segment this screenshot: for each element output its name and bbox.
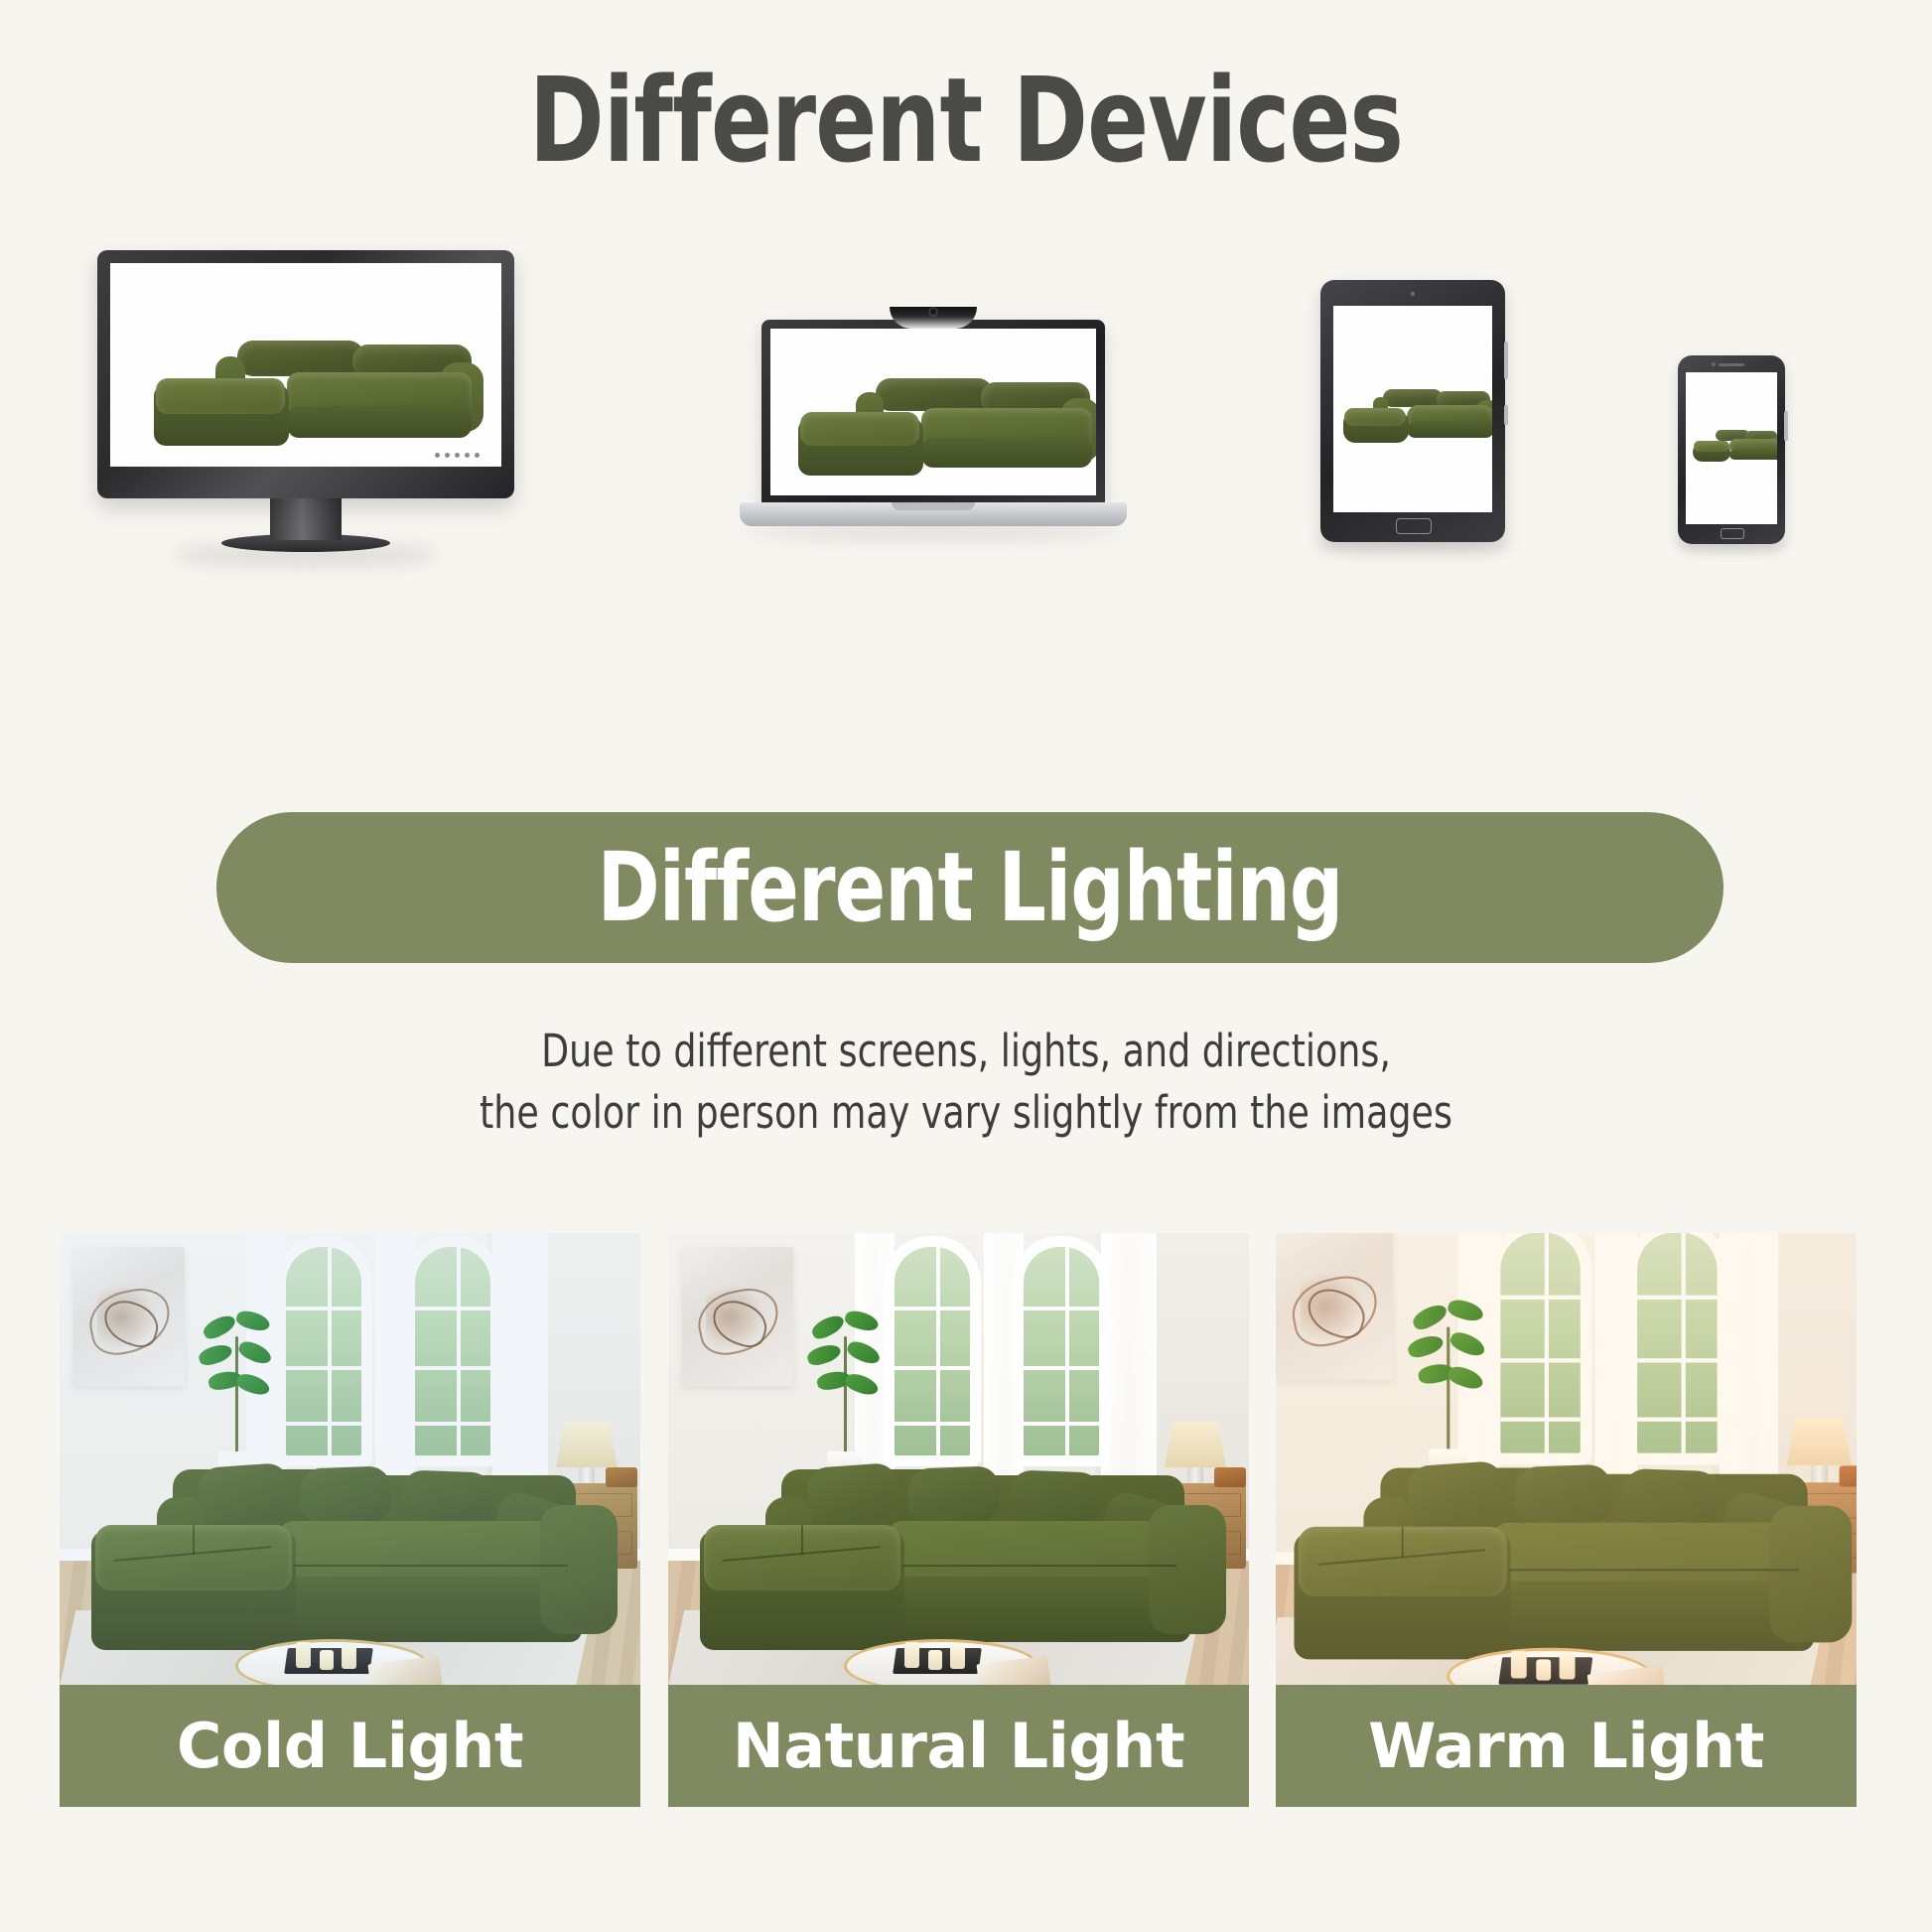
- sofa-illustration: [146, 341, 466, 452]
- lighting-panel-warm: Warm Light: [1276, 1233, 1857, 1807]
- lighting-panel-label-natural: Natural Light: [668, 1685, 1249, 1807]
- monitor-screen: [110, 263, 501, 467]
- lighting-panel-cold: Cold Light: [60, 1233, 640, 1807]
- lighting-panel-label-cold: Cold Light: [60, 1685, 640, 1807]
- page-title-different-devices: Different Devices: [135, 58, 1797, 184]
- product-image-laptop: [770, 329, 1096, 495]
- webcam-icon: [930, 309, 936, 315]
- lighting-panel-label-warm: Warm Light: [1276, 1685, 1857, 1807]
- phone-screen: [1686, 372, 1777, 524]
- laptop-hinge-notch: [892, 502, 975, 510]
- natural-light-tint: [668, 1233, 1249, 1685]
- tablet-screen: [1333, 306, 1492, 512]
- product-image-tablet: [1333, 306, 1492, 512]
- front-camera-icon: [1411, 292, 1415, 296]
- sofa-illustration: [1692, 430, 1775, 464]
- lighting-panel-natural: Natural Light: [668, 1233, 1249, 1807]
- device-tablet: [1320, 280, 1505, 542]
- tablet-bezel: [1320, 280, 1505, 542]
- cold-light-tint: [60, 1233, 640, 1685]
- phone-home-button[interactable]: [1721, 528, 1744, 539]
- room-scene-warm: [1276, 1233, 1857, 1685]
- product-image-phone: [1686, 372, 1777, 524]
- different-lighting-banner: Different Lighting: [216, 812, 1724, 963]
- warm-light-tint: [1276, 1233, 1857, 1685]
- disclaimer-line-2: the color in person may vary slightly fr…: [96, 1082, 1835, 1144]
- disclaimer-line-1: Due to different screens, lights, and di…: [96, 1021, 1835, 1082]
- phone-bezel: [1678, 355, 1785, 544]
- room-scene-natural: [668, 1233, 1249, 1685]
- phone-power-button[interactable]: [1784, 411, 1788, 441]
- earpiece-speaker-icon: [1719, 363, 1744, 366]
- device-monitor: [97, 250, 514, 498]
- sofa-illustration: [1341, 389, 1486, 445]
- laptop-lid: [761, 320, 1105, 504]
- laptop-webcam-bump: [890, 307, 977, 329]
- laptop-shadow: [748, 524, 1119, 540]
- color-disclaimer: Due to different screens, lights, and di…: [96, 1021, 1835, 1144]
- front-camera-icon: [1712, 362, 1716, 366]
- device-mockup-row: [0, 228, 1932, 596]
- monitor-indicator-dots: [435, 453, 480, 458]
- room-scene-cold: [60, 1233, 640, 1685]
- monitor-bezel: [97, 250, 514, 498]
- device-laptop: [740, 320, 1127, 530]
- tablet-volume-button[interactable]: [1504, 342, 1508, 379]
- laptop-screen: [770, 329, 1096, 495]
- monitor-neck: [270, 496, 342, 540]
- lighting-comparison-row: Cold Light: [0, 1233, 1932, 1809]
- product-image-monitor: [110, 263, 501, 467]
- tablet-home-button[interactable]: [1396, 518, 1432, 534]
- different-lighting-banner-label: Different Lighting: [307, 812, 1633, 963]
- tablet-power-button[interactable]: [1504, 405, 1508, 425]
- infographic-page: Different Devices: [0, 0, 1932, 1932]
- sofa-illustration: [792, 378, 1082, 482]
- device-phone: [1678, 355, 1785, 544]
